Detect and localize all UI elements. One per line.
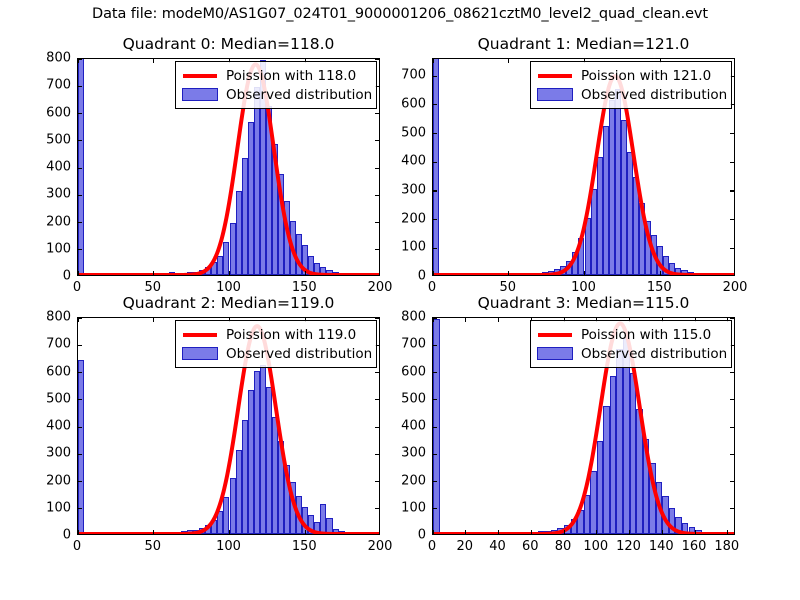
y-tick-mark — [433, 481, 437, 482]
x-tick-mark — [78, 318, 79, 322]
y-tick-label: 100 — [25, 500, 71, 515]
histogram-bar — [688, 272, 694, 275]
x-tick-label: 100 — [216, 280, 241, 295]
y-tick-label: 800 — [380, 310, 426, 325]
histogram-bar — [363, 273, 369, 275]
y-tick-mark — [730, 508, 734, 509]
x-tick-mark — [433, 318, 434, 322]
x-tick-mark — [78, 530, 79, 534]
histogram-bar — [557, 528, 564, 534]
histogram-bar — [333, 529, 339, 534]
x-tick-label: 150 — [292, 280, 317, 295]
x-tick-mark — [229, 271, 230, 275]
y-tick-label: 300 — [380, 446, 426, 461]
histogram-bar — [345, 532, 351, 534]
y-tick-mark — [375, 318, 379, 319]
y-tick-label: 500 — [25, 132, 71, 147]
x-tick-label: 160 — [682, 539, 707, 554]
y-tick-label: 100 — [380, 240, 426, 255]
y-tick-label: 200 — [380, 473, 426, 488]
histogram-bar — [314, 522, 320, 534]
histogram-bar — [433, 319, 440, 534]
x-tick-mark — [305, 530, 306, 534]
y-tick-mark — [730, 190, 734, 191]
histogram-bar — [627, 152, 633, 275]
x-tick-mark — [727, 530, 728, 534]
histogram-bar — [308, 256, 314, 275]
y-tick-label: 800 — [25, 51, 71, 66]
legend-entry: Poission with 121.0 — [537, 66, 725, 85]
x-tick-label: 180 — [714, 539, 739, 554]
histogram-bar — [609, 100, 615, 275]
y-tick-mark — [433, 133, 437, 134]
legend-entry: Poission with 115.0 — [537, 325, 725, 344]
x-tick-mark — [433, 271, 434, 275]
histogram-bar — [236, 191, 242, 275]
y-tick-mark — [78, 113, 82, 114]
histogram-bar — [615, 89, 621, 275]
histogram-bar — [326, 270, 332, 275]
x-tick-label: 50 — [499, 280, 516, 295]
y-tick-label: 400 — [25, 419, 71, 434]
histogram-bar — [657, 246, 663, 275]
legend-label: Poission with 119.0 — [226, 327, 356, 343]
y-tick-mark — [375, 59, 379, 60]
x-tick-label: 150 — [292, 539, 317, 554]
histogram-bar — [616, 349, 623, 534]
x-tick-label: 0 — [73, 280, 81, 295]
legend-line-swatch-icon — [182, 69, 218, 83]
y-tick-mark — [730, 248, 734, 249]
histogram-bar — [326, 518, 332, 534]
x-tick-label: 60 — [522, 539, 539, 554]
quadrant-3-legend[interactable]: Poission with 115.0Observed distribution — [530, 320, 732, 368]
x-tick-label: 50 — [144, 539, 161, 554]
histogram-bar — [715, 532, 722, 534]
y-tick-label: 400 — [380, 154, 426, 169]
y-tick-label: 400 — [25, 160, 71, 175]
legend-line-swatch-icon — [182, 328, 218, 342]
legend-entry: Observed distribution — [182, 344, 370, 363]
histogram-bar — [530, 273, 536, 275]
histogram-bar — [296, 234, 302, 275]
x-tick-mark — [508, 271, 509, 275]
histogram-bar — [577, 510, 584, 534]
x-tick-mark — [508, 59, 509, 63]
histogram-bar — [645, 221, 651, 276]
y-tick-mark — [78, 345, 82, 346]
histogram-bar — [597, 441, 604, 534]
y-tick-mark — [433, 427, 437, 428]
histogram-bar — [230, 478, 236, 534]
x-tick-mark — [596, 530, 597, 534]
y-tick-mark — [730, 427, 734, 428]
legend-entry: Observed distribution — [537, 344, 725, 363]
legend-line-swatch-icon — [537, 69, 573, 83]
y-tick-mark — [375, 249, 379, 250]
legend-line-swatch-icon — [537, 328, 573, 342]
histogram-bar — [633, 177, 639, 275]
y-tick-mark — [78, 222, 82, 223]
histogram-bar — [314, 263, 320, 275]
y-tick-mark — [730, 399, 734, 400]
x-tick-label: 0 — [428, 539, 436, 554]
y-tick-mark — [78, 249, 82, 250]
quadrant-3-title: Quadrant 3: Median=115.0 — [432, 294, 735, 312]
y-tick-label: 700 — [380, 68, 426, 83]
x-tick-label: 120 — [616, 539, 641, 554]
x-tick-mark — [531, 530, 532, 534]
histogram-bar — [669, 263, 675, 275]
x-tick-mark — [465, 530, 466, 534]
y-tick-mark — [78, 195, 82, 196]
quadrant-2-legend[interactable]: Poission with 119.0Observed distribution — [175, 320, 377, 368]
quadrant-0-legend[interactable]: Poission with 118.0Observed distribution — [175, 61, 377, 109]
histogram-bar — [682, 523, 689, 534]
histogram-bar — [193, 530, 199, 534]
histogram-bar — [531, 532, 538, 534]
histogram-bar — [639, 203, 645, 275]
x-tick-mark — [78, 271, 79, 275]
histogram-bar — [621, 120, 627, 275]
y-tick-mark — [375, 113, 379, 114]
histogram-bar — [199, 270, 205, 275]
y-tick-mark — [730, 318, 734, 319]
histogram-bar — [260, 365, 266, 534]
histogram-bar — [278, 441, 284, 534]
histogram-bar — [554, 269, 560, 275]
y-tick-label: 400 — [380, 419, 426, 434]
legend-entry: Poission with 119.0 — [182, 325, 370, 344]
histogram-bar — [266, 387, 272, 534]
histogram-bar — [566, 261, 572, 275]
y-tick-label: 0 — [25, 269, 71, 284]
x-tick-mark — [584, 271, 585, 275]
histogram-bar — [193, 272, 199, 275]
histogram-bar — [296, 496, 302, 534]
legend-label: Observed distribution — [581, 87, 727, 103]
y-tick-mark — [78, 140, 82, 141]
x-tick-mark — [78, 59, 79, 63]
histogram-bar — [649, 463, 656, 534]
y-tick-label: 200 — [25, 214, 71, 229]
histogram-bar — [290, 482, 296, 534]
histogram-bar — [242, 158, 248, 275]
y-tick-label: 600 — [25, 105, 71, 120]
y-tick-label: 600 — [380, 96, 426, 111]
histogram-bar — [205, 525, 211, 534]
histogram-bar — [339, 273, 345, 275]
x-tick-mark — [498, 318, 499, 322]
histogram-bar — [571, 519, 578, 534]
histogram-bar — [254, 87, 260, 275]
histogram-bar — [345, 273, 351, 275]
histogram-bar — [169, 272, 175, 275]
histogram-bar — [223, 242, 229, 275]
histogram-bar — [278, 174, 284, 275]
x-tick-mark — [433, 59, 434, 63]
histogram-bar — [695, 530, 702, 534]
histogram-bar — [272, 417, 278, 534]
y-tick-mark — [78, 508, 82, 509]
y-tick-label: 700 — [380, 337, 426, 352]
y-tick-mark — [433, 399, 437, 400]
histogram-bar — [643, 439, 650, 534]
histogram-bar — [78, 360, 84, 534]
histogram-bar — [578, 238, 584, 275]
x-tick-mark — [153, 271, 154, 275]
histogram-bar — [630, 373, 637, 534]
x-tick-mark — [660, 271, 661, 275]
histogram-bar — [597, 157, 603, 275]
legend-label: Poission with 118.0 — [226, 68, 356, 84]
histogram-bar — [544, 531, 551, 534]
legend-patch-swatch-icon — [537, 347, 573, 360]
histogram-bar — [248, 122, 254, 275]
x-tick-mark — [153, 318, 154, 322]
y-tick-mark — [78, 481, 82, 482]
histogram-bar — [266, 106, 272, 275]
histogram-bar — [351, 273, 357, 275]
y-tick-mark — [433, 190, 437, 191]
histogram-bar — [603, 126, 609, 275]
x-tick-label: 20 — [456, 539, 473, 554]
y-tick-mark — [78, 59, 82, 60]
histogram-bar — [700, 273, 706, 275]
y-tick-mark — [78, 427, 82, 428]
histogram-bar — [217, 256, 223, 275]
histogram-bar — [302, 507, 308, 534]
histogram-bar — [712, 273, 718, 275]
legend-patch-swatch-icon — [537, 88, 573, 101]
histogram-bar — [524, 273, 530, 275]
histogram-bar — [308, 515, 314, 534]
y-tick-label: 200 — [380, 211, 426, 226]
x-tick-mark — [498, 530, 499, 534]
legend-label: Observed distribution — [226, 87, 372, 103]
histogram-bar — [290, 221, 296, 276]
y-tick-mark — [78, 86, 82, 87]
histogram-bar — [585, 218, 591, 275]
histogram-bar — [339, 531, 345, 534]
x-tick-mark — [433, 530, 434, 534]
quadrant-2-title: Quadrant 2: Median=119.0 — [77, 294, 380, 312]
x-tick-label: 200 — [723, 280, 748, 295]
histogram-bar — [590, 471, 597, 534]
y-tick-mark — [433, 248, 437, 249]
histogram-bar — [656, 482, 663, 534]
subplot-quadrant-1: Quadrant 1: Median=121.00100200300400500… — [0, 0, 800, 600]
histogram-bar — [708, 532, 715, 534]
y-tick-label: 200 — [25, 473, 71, 488]
histogram-bar — [538, 531, 545, 534]
x-tick-mark — [564, 530, 565, 534]
histogram-bar — [681, 270, 687, 275]
x-tick-label: 200 — [368, 280, 393, 295]
x-tick-label: 0 — [73, 539, 81, 554]
y-tick-mark — [433, 219, 437, 220]
histogram-bar — [272, 144, 278, 275]
histogram-bar — [320, 267, 326, 275]
y-tick-mark — [433, 318, 437, 319]
x-tick-mark — [695, 530, 696, 534]
histogram-bar — [689, 527, 696, 534]
histogram-bar — [199, 528, 205, 534]
legend-patch-swatch-icon — [182, 347, 218, 360]
x-tick-mark — [629, 530, 630, 534]
histogram-bar — [542, 272, 548, 275]
y-tick-mark — [730, 454, 734, 455]
histogram-bar — [320, 504, 326, 534]
x-tick-mark — [153, 530, 154, 534]
x-tick-label: 50 — [144, 280, 161, 295]
histogram-bar — [675, 268, 681, 275]
histogram-bar — [230, 223, 236, 275]
y-tick-mark — [433, 76, 437, 77]
histogram-bar — [706, 273, 712, 275]
y-tick-mark — [433, 104, 437, 105]
histogram-bar — [584, 495, 591, 535]
y-tick-label: 700 — [25, 337, 71, 352]
x-tick-mark — [305, 271, 306, 275]
histogram-bar — [236, 450, 242, 534]
x-tick-label: 150 — [647, 280, 672, 295]
histogram-bar — [187, 530, 193, 534]
histogram-bar — [603, 406, 610, 534]
histogram-bar — [351, 532, 357, 534]
y-tick-mark — [730, 219, 734, 220]
y-tick-mark — [433, 508, 437, 509]
y-tick-label: 700 — [25, 78, 71, 93]
histogram-bar — [284, 465, 290, 534]
x-tick-mark — [662, 530, 663, 534]
y-tick-label: 0 — [25, 528, 71, 543]
y-tick-label: 500 — [380, 125, 426, 140]
y-tick-mark — [433, 454, 437, 455]
y-tick-mark — [375, 481, 379, 482]
histogram-bar — [223, 497, 229, 534]
legend-label: Poission with 115.0 — [581, 327, 711, 343]
histogram-bar — [572, 252, 578, 275]
histogram-bar — [205, 267, 211, 275]
histogram-bar — [217, 511, 223, 534]
histogram-bar — [181, 531, 187, 534]
y-tick-label: 600 — [25, 364, 71, 379]
histogram-bar — [675, 517, 682, 534]
y-tick-mark — [78, 372, 82, 373]
histogram-bar — [254, 371, 260, 535]
histogram-bar — [333, 272, 339, 275]
histogram-bar — [187, 272, 193, 275]
y-tick-mark — [78, 399, 82, 400]
y-tick-mark — [375, 222, 379, 223]
y-tick-label: 500 — [380, 391, 426, 406]
legend-patch-swatch-icon — [182, 88, 218, 101]
histogram-bar — [669, 508, 676, 534]
x-tick-label: 200 — [368, 539, 393, 554]
histogram-bar — [181, 273, 187, 275]
y-tick-label: 600 — [380, 364, 426, 379]
histogram-bar — [663, 256, 669, 275]
legend-entry: Observed distribution — [537, 85, 725, 104]
y-tick-label: 100 — [25, 241, 71, 256]
y-tick-mark — [375, 372, 379, 373]
quadrant-1-legend[interactable]: Poission with 121.0Observed distribution — [530, 61, 732, 109]
y-tick-mark — [375, 454, 379, 455]
histogram-bar — [369, 273, 375, 275]
histogram-bar — [651, 235, 657, 275]
y-tick-mark — [433, 162, 437, 163]
histogram-bar — [175, 532, 181, 534]
histogram-bar — [363, 532, 369, 534]
histogram-bar — [357, 532, 363, 534]
y-tick-label: 300 — [380, 182, 426, 197]
x-tick-label: 100 — [216, 539, 241, 554]
y-tick-mark — [375, 399, 379, 400]
y-tick-mark — [375, 140, 379, 141]
histogram-bar — [694, 273, 700, 275]
y-tick-mark — [375, 168, 379, 169]
y-tick-label: 500 — [25, 391, 71, 406]
y-tick-label: 100 — [380, 500, 426, 515]
y-tick-mark — [730, 481, 734, 482]
y-tick-label: 800 — [25, 310, 71, 325]
x-tick-label: 100 — [583, 539, 608, 554]
histogram-bar — [662, 496, 669, 534]
histogram-bar — [560, 266, 566, 275]
legend-label: Poission with 121.0 — [581, 68, 711, 84]
histogram-bar — [718, 273, 724, 275]
histogram-bar — [636, 409, 643, 534]
histogram-bar — [302, 245, 308, 275]
figure-suptitle: Data file: modeM0/AS1G07_024T01_90000012… — [0, 6, 800, 22]
quadrant-1-title: Quadrant 1: Median=121.0 — [432, 35, 735, 53]
y-tick-mark — [78, 454, 82, 455]
x-tick-mark — [153, 59, 154, 63]
quadrant-0-title: Quadrant 0: Median=118.0 — [77, 35, 380, 53]
histogram-bar — [702, 532, 709, 534]
y-tick-label: 300 — [25, 187, 71, 202]
x-tick-mark — [229, 530, 230, 534]
legend-label: Observed distribution — [226, 346, 372, 362]
histogram-bar — [564, 525, 571, 534]
x-tick-label: 140 — [649, 539, 674, 554]
histogram-bar — [175, 273, 181, 275]
x-tick-label: 40 — [489, 539, 506, 554]
legend-entry: Poission with 118.0 — [182, 66, 370, 85]
y-tick-mark — [433, 345, 437, 346]
y-tick-label: 0 — [380, 269, 426, 284]
histogram-bar — [548, 271, 554, 275]
y-tick-mark — [433, 372, 437, 373]
histogram-bar — [284, 201, 290, 275]
x-tick-label: 80 — [555, 539, 572, 554]
histogram-bar — [536, 273, 542, 275]
histogram-bar — [357, 273, 363, 275]
x-tick-label: 100 — [571, 280, 596, 295]
matplotlib-figure: Data file: modeM0/AS1G07_024T01_90000012… — [0, 0, 800, 600]
y-tick-mark — [375, 195, 379, 196]
histogram-bar — [211, 520, 217, 534]
histogram-bar — [248, 390, 254, 534]
x-tick-label: 0 — [428, 280, 436, 295]
y-tick-label: 0 — [380, 528, 426, 543]
histogram-bar — [211, 262, 217, 275]
y-tick-mark — [375, 427, 379, 428]
y-tick-mark — [730, 162, 734, 163]
y-tick-mark — [730, 372, 734, 373]
histogram-bar — [551, 530, 558, 534]
